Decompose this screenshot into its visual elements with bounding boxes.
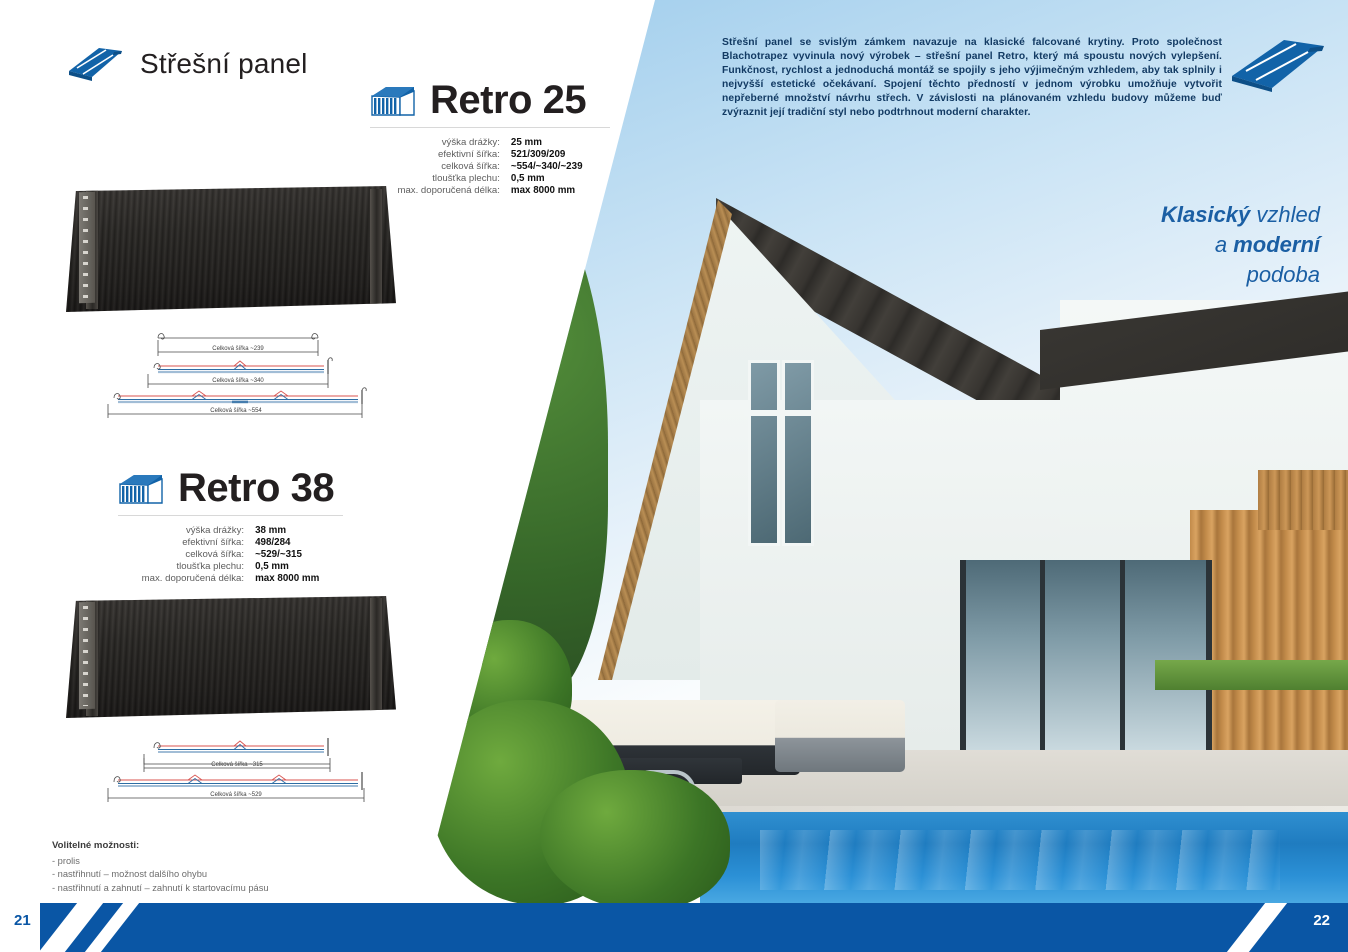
cross-section-drawings-retro-38: Celková šířka ~315 <box>96 738 378 810</box>
window-transom <box>744 410 814 416</box>
tagline-line-2: a moderní <box>990 230 1320 260</box>
product-heading: Retro 25 <box>370 78 610 123</box>
divider <box>370 127 610 128</box>
spec-value: 0,5 mm <box>511 173 610 184</box>
options-list: Volitelné možnosti: - prolis - nastřihnu… <box>52 840 269 895</box>
product-name: Retro 38 <box>178 466 334 511</box>
roof-panel-icon <box>66 44 124 84</box>
dimension-label: Celková šířka ~529 <box>210 792 262 798</box>
spec-value: max 8000 mm <box>511 185 610 196</box>
spec-label: celková šířka: <box>370 161 500 172</box>
intro-paragraph: Střešní panel se svislým zámkem navazuje… <box>722 36 1222 121</box>
spec-value: 38 mm <box>255 525 343 536</box>
product-name: Retro 25 <box>430 78 586 123</box>
page-number-left: 21 <box>14 912 31 929</box>
options-title: Volitelné možnosti: <box>52 840 269 851</box>
panel-seam <box>370 189 382 310</box>
spec-label: tloušťka plechu: <box>370 173 500 184</box>
spec-label: max. doporučená délka: <box>118 573 244 584</box>
page-title: Střešní panel <box>140 48 308 80</box>
wood-cladding-upper <box>1258 470 1348 530</box>
spec-label: efektivní šířka: <box>118 537 244 548</box>
water-reflection <box>760 830 1280 890</box>
footer-bar <box>0 903 1348 952</box>
wood-cladding <box>1190 510 1348 760</box>
panel-image <box>66 186 396 312</box>
spec-value: 0,5 mm <box>255 561 343 572</box>
spec-table: výška drážky: 38 mm efektivní šířka: 498… <box>118 525 343 584</box>
window-left <box>748 360 780 546</box>
cross-section-drawings-retro-25: Celková šířka ~239 Celkov <box>96 326 378 422</box>
profile-diagram-group: Celková šířka ~315 <box>96 738 378 810</box>
product-retro-38: Retro 38 výška drážky: 38 mm efektivní š… <box>118 466 343 584</box>
profile-diagram <box>114 388 366 404</box>
swimming-pool <box>700 812 1348 903</box>
dimension-label: Celková šířka ~239 <box>212 346 264 352</box>
roof-house-icon <box>370 85 416 117</box>
panel-seam <box>370 598 382 715</box>
option-item: - nastřihnutí – možnost dalšího ohybu <box>52 868 269 881</box>
dimension-label: Celková šířka ~315 <box>211 762 263 768</box>
spec-value: 25 mm <box>511 137 610 148</box>
product-retro-25: Retro 25 výška drážky: 25 mm efektivní š… <box>370 78 610 196</box>
spec-label: celková šířka: <box>118 549 244 560</box>
glass-mullion <box>1120 560 1125 750</box>
tagline-line-3: podoba <box>990 260 1320 290</box>
spec-value: ~554/~340/~239 <box>511 161 610 172</box>
profile-diagram <box>114 772 362 790</box>
dimension-label: Celková šířka ~554 <box>210 408 262 414</box>
spec-value: max 8000 mm <box>255 573 343 584</box>
product-photo-retro-38 <box>66 596 396 718</box>
page-number-right: 22 <box>1313 912 1330 929</box>
product-photo-retro-25 <box>66 186 396 312</box>
spec-value: ~529/~315 <box>255 549 343 560</box>
roof-panel-icon <box>1226 32 1330 94</box>
lawn <box>1155 660 1348 690</box>
brand-header: Střešní panel <box>66 44 308 84</box>
outdoor-armchair <box>775 700 905 772</box>
profile-diagram <box>158 334 318 356</box>
glass-mullion <box>1040 560 1045 750</box>
spec-label: efektivní šířka: <box>370 149 500 160</box>
divider <box>118 515 343 516</box>
spec-label: výška drážky: <box>370 137 500 148</box>
profile-diagram-group: Celková šířka ~239 Celkov <box>96 326 378 422</box>
panel-perforations <box>83 606 88 706</box>
spec-table: výška drážky: 25 mm efektivní šířka: 521… <box>370 137 610 196</box>
glass-sliding-doors <box>960 560 1212 750</box>
profile-diagram <box>144 738 330 764</box>
roof-house-icon <box>118 473 164 505</box>
tagline-line-1: Klasický vzhled <box>990 200 1320 230</box>
spec-value: 521/309/209 <box>511 149 610 160</box>
left-content-page: Střešní panel Retro 25 <box>0 0 660 903</box>
panel-perforations <box>83 196 88 299</box>
spec-value: 498/284 <box>255 537 343 548</box>
profile-diagram <box>154 358 332 374</box>
product-heading: Retro 38 <box>118 466 343 511</box>
brochure-spread: Střešní panel se svislým zámkem navazuje… <box>0 0 1348 952</box>
spec-label: tloušťka plechu: <box>118 561 244 572</box>
tagline: Klasický vzhled a moderní podoba <box>990 200 1320 290</box>
dimension-label: Celková šířka ~340 <box>212 378 264 384</box>
window-right <box>782 360 814 546</box>
panel-image <box>66 596 396 718</box>
option-item: - nastřihnutí a zahnutí – zahnutí k star… <box>52 882 269 895</box>
option-item: - prolis <box>52 855 269 868</box>
spec-label: výška drážky: <box>118 525 244 536</box>
